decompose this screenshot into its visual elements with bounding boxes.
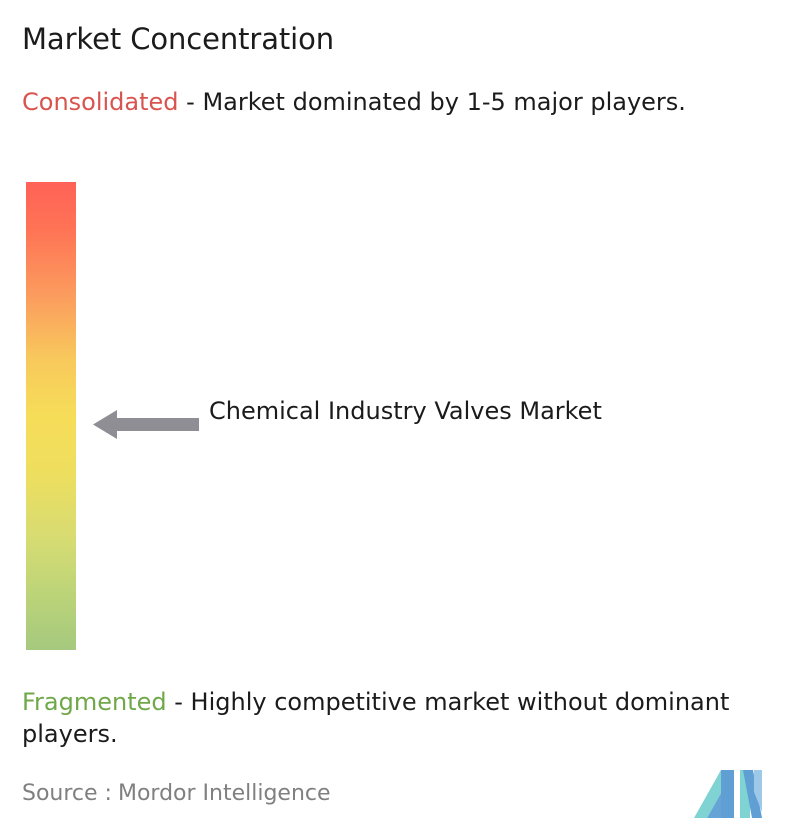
arrow-left-icon-svg [93, 408, 199, 441]
legend-fragmented: Fragmented - Highly competitive market w… [22, 686, 784, 750]
page-title: Market Concentration [22, 20, 334, 58]
legend-consolidated: Consolidated - Market dominated by 1-5 m… [22, 86, 772, 118]
mordor-intelligence-logo [694, 770, 762, 818]
legend-fragmented-keyword: Fragmented [22, 688, 167, 716]
mordor-intelligence-logo-svg [694, 770, 762, 818]
concentration-gradient-scale [26, 182, 76, 650]
arrow-left-icon [93, 408, 199, 441]
source-label: Source : [22, 781, 112, 806]
source-value: Mordor Intelligence [118, 781, 331, 806]
market-marker-label: Chemical Industry Valves Market [209, 394, 639, 429]
source-attribution: Source :Mordor Intelligence [22, 779, 331, 809]
market-concentration-infographic: Market Concentration Consolidated - Mark… [0, 0, 796, 834]
legend-consolidated-keyword: Consolidated [22, 88, 179, 116]
legend-consolidated-description: - Market dominated by 1-5 major players. [179, 88, 686, 116]
